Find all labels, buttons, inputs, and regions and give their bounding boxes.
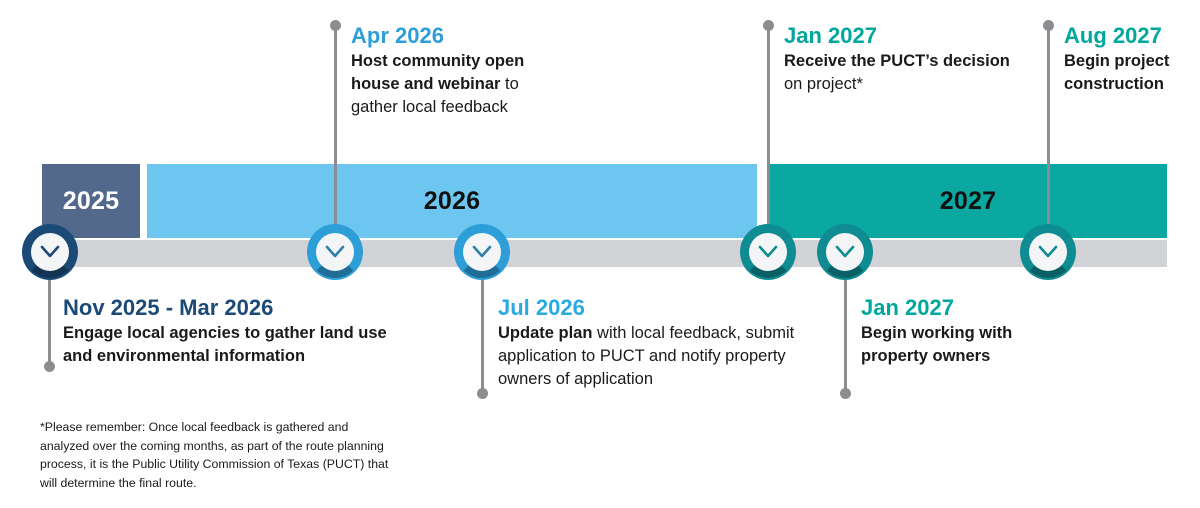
connector-dot-apr-2026 [330,20,341,31]
milestone-callout-apr-2026: Apr 2026 Host community open house and w… [351,24,566,120]
check-circle-icon [472,245,492,259]
milestone-date-apr-2026: Apr 2026 [351,24,566,49]
check-circle-icon [1038,245,1058,259]
marker-disc [463,233,501,271]
connector-line-aug-2027 [1047,26,1050,252]
connector-dot-jan-2027-owners [840,388,851,399]
milestone-description-bold: Host community open house and webinar [351,52,524,93]
milestone-callout-jan-2027-owners: Jan 2027 Begin working with property own… [861,296,1076,368]
milestone-marker-jan-2027-puct[interactable] [740,224,796,280]
milestone-marker-jan-2027-owners[interactable] [817,224,873,280]
marker-disc [316,233,354,271]
milestone-description-jul-2026: Update plan with local feedback, submit … [498,322,828,392]
milestone-description-jan-2027-owners: Begin working with property owners [861,322,1076,369]
milestone-description-rest: on project* [784,75,863,93]
milestone-date-aug-2027: Aug 2027 [1064,24,1200,49]
milestone-description-bold: Receive the PUCT’s decision [784,52,1010,70]
milestone-date-jul-2026: Jul 2026 [498,296,828,321]
marker-disc [31,233,69,271]
connector-dot-jul-2026 [477,388,488,399]
check-circle-icon [325,245,345,259]
check-circle-icon [758,245,778,259]
connector-line-jan-2027-puct [767,26,770,252]
milestone-callout-aug-2027: Aug 2027 Begin project construction [1064,24,1200,96]
milestone-description-bold: Update plan [498,324,592,342]
milestone-description-nov-2025: Engage local agencies to gather land use… [63,322,413,369]
marker-disc [826,233,864,271]
band-label-2027: 2027 [940,189,996,214]
connector-line-apr-2026 [334,26,337,252]
milestone-description-bold: Engage local agencies to gather land use… [63,324,387,365]
milestone-description-aug-2027: Begin project construction [1064,50,1200,97]
milestone-description-bold: Begin working with property owners [861,324,1012,365]
milestone-description-bold: Begin project construction [1064,52,1169,93]
connector-dot-nov-2025 [44,361,55,372]
milestone-date-jan-2027-owners: Jan 2027 [861,296,1076,321]
band-label-2026: 2026 [424,189,480,214]
connector-dot-jan-2027-puct [763,20,774,31]
milestone-marker-jul-2026[interactable] [454,224,510,280]
milestone-callout-jan-2027-puct: Jan 2027 Receive the PUCT’s decision on … [784,24,1019,96]
marker-disc [749,233,787,271]
check-circle-icon [835,245,855,259]
milestone-marker-apr-2026[interactable] [307,224,363,280]
band-label-2025: 2025 [63,189,119,214]
connector-dot-aug-2027 [1043,20,1054,31]
marker-disc [1029,233,1067,271]
milestone-callout-jul-2026: Jul 2026 Update plan with local feedback… [498,296,828,392]
milestone-date-jan-2027-puct: Jan 2027 [784,24,1019,49]
milestone-date-nov-2025: Nov 2025 - Mar 2026 [63,296,413,321]
milestone-description-jan-2027-puct: Receive the PUCT’s decision on project* [784,50,1019,97]
milestone-callout-nov-2025: Nov 2025 - Mar 2026 Engage local agencie… [63,296,413,368]
timeline-rail [42,240,1167,267]
timeline-band-2026: 2026 [147,164,757,238]
milestone-description-apr-2026: Host community open house and webinar to… [351,50,566,120]
timeline-band-2027: 2027 [769,164,1167,238]
milestone-marker-aug-2027[interactable] [1020,224,1076,280]
footnote-text: *Please remember: Once local feedback is… [40,418,392,493]
milestone-marker-nov-2025[interactable] [22,224,78,280]
project-timeline-infographic: 2025 2026 2027 [0,0,1200,508]
check-circle-icon [40,245,60,259]
